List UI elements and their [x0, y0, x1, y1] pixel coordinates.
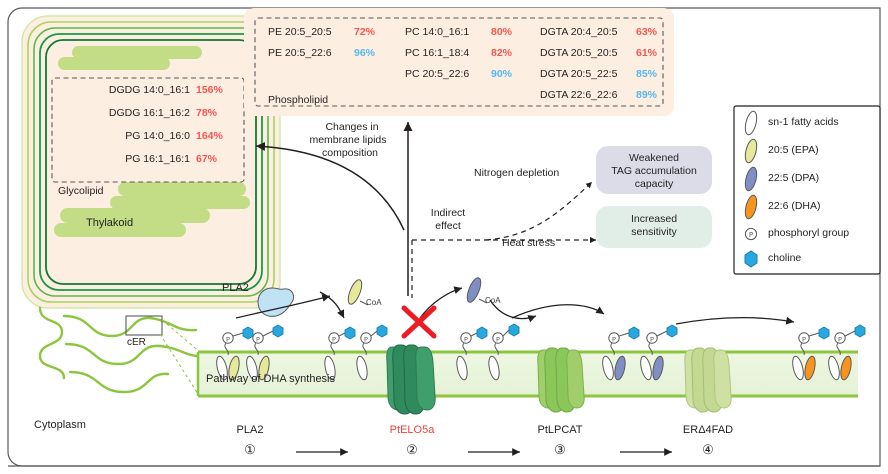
pathway-step-name-2: PtLPCAT	[510, 425, 610, 437]
pc-row-value-0: 80%	[491, 27, 512, 38]
pathway-step-num-2: ③	[510, 443, 610, 457]
svg-text:P: P	[364, 335, 368, 343]
svg-text:P: P	[802, 335, 806, 343]
outcome-tag-line3: capacity	[596, 178, 712, 191]
dgta-row-value-2: 85%	[636, 69, 657, 80]
nitrogen-depletion-label: Nitrogen depletion	[474, 168, 559, 179]
pathway-step-name-3: ERΔ4FAD	[658, 425, 758, 437]
pe-row-name-1: PE 20:5_22:6	[268, 48, 332, 59]
protein-ptlpcat	[538, 348, 584, 412]
glycolipid-row-value-2: 164%	[196, 131, 223, 142]
pathway-step-num-3: ④	[658, 443, 758, 457]
pathway-step-name-0: PLA2	[200, 425, 300, 437]
dgta-row-name-0: DGTA 20:4_20:5	[540, 27, 617, 38]
cer-label: cER	[127, 338, 146, 349]
glycolipid-row-name-3: PG 16:1_16:1	[62, 154, 190, 165]
cytoplasm-label: Cytoplasm	[34, 420, 86, 432]
heat-stress-label: Heat stress	[502, 238, 555, 249]
dgta-row-value-3: 89%	[636, 90, 657, 101]
pla2-enzyme-label: PLA2	[222, 283, 249, 295]
legend-label-5: choline	[768, 253, 801, 264]
changes-label-line3: composition	[296, 148, 404, 159]
glycolipid-group-label: Glycolipid	[58, 186, 104, 197]
svg-text:P: P	[256, 335, 260, 343]
svg-text:P: P	[332, 335, 336, 343]
glycolipid-row-name-1: DGDG 16:1_16:2	[62, 108, 190, 119]
coa-label-dpa: CoA	[485, 297, 501, 305]
free-epa-coa	[345, 278, 368, 306]
changes-label-line2: membrane lipids	[292, 135, 404, 146]
cer-network	[40, 308, 206, 392]
membrane-band-label: Pathway of DHA synthesis	[206, 374, 335, 386]
figure-root: P P P	[0, 0, 888, 474]
dgta-row-value-0: 63%	[636, 27, 657, 38]
protein-ptelo5a	[387, 345, 435, 414]
pathway-step-num-0: ①	[200, 443, 300, 457]
legend-label-3: 22:6 (DHA)	[768, 201, 821, 212]
dgta-row-name-3: DGTA 22:6_22:6	[540, 90, 617, 101]
legend-box	[734, 106, 880, 274]
pc-row-name-0: PC 14:0_16:1	[405, 27, 469, 38]
pathway-step-name-1: PtELO5a	[362, 425, 462, 437]
pc-row-name-1: PC 16:1_18:4	[405, 48, 469, 59]
glycolipid-row-name-0: DGDG 14:0_16:1	[62, 85, 190, 96]
dgta-row-name-2: DGTA 20:5_22:5	[540, 69, 617, 80]
dgta-row-value-1: 61%	[636, 48, 657, 59]
outcome-tag-line1: Weakened	[596, 152, 712, 165]
glycolipid-row-value-3: 67%	[196, 154, 217, 165]
blocked-x-icon	[404, 308, 434, 336]
svg-text:P: P	[612, 335, 616, 343]
svg-text:P: P	[838, 335, 842, 343]
pathway-step-num-1: ②	[362, 443, 462, 457]
pe-row-value-0: 72%	[354, 27, 375, 38]
thylakoid-label: Thylakoid	[86, 218, 133, 230]
legend-label-0: sn-1 fatty acids	[768, 117, 839, 128]
svg-text:P: P	[749, 231, 753, 239]
svg-text:P: P	[464, 335, 468, 343]
outcome-sensitivity-line2: sensitivity	[596, 226, 712, 239]
pc-row-value-2: 90%	[491, 69, 512, 80]
svg-text:P: P	[496, 335, 500, 343]
glycolipid-row-name-2: PG 14:0_16:0	[62, 131, 190, 142]
pc-row-value-1: 82%	[491, 48, 512, 59]
indirect-effect-line2: effect	[418, 221, 478, 232]
dgta-row-name-1: DGTA 20:5_20:5	[540, 48, 617, 59]
reaction-arrows	[236, 288, 794, 324]
phospholipid-group-label: Phospholipid	[268, 95, 328, 106]
legend-label-1: 20:5 (EPA)	[768, 145, 819, 156]
pe-row-name-0: PE 20:5_20:5	[268, 27, 332, 38]
svg-text:P: P	[650, 335, 654, 343]
legend-label-2: 22:5 (DPA)	[768, 173, 819, 184]
outcome-sensitivity-line1: Increased	[596, 213, 712, 226]
indirect-effect-line1: Indirect	[418, 208, 478, 219]
outcome-tag-line2: TAG accumulation	[596, 165, 712, 178]
changes-label-line1: Changes in	[300, 122, 404, 133]
coa-label-epa: CoA	[366, 299, 382, 307]
free-dpa-coa	[464, 276, 487, 304]
glycolipid-row-value-0: 156%	[196, 85, 223, 96]
svg-text:P: P	[226, 335, 230, 343]
pe-row-value-1: 96%	[354, 48, 375, 59]
pc-row-name-2: PC 20:5_22:6	[405, 69, 469, 80]
legend-label-4: phosphoryl group	[768, 228, 849, 239]
protein-erd4fad	[685, 348, 731, 412]
glycolipid-row-value-1: 78%	[196, 108, 217, 119]
